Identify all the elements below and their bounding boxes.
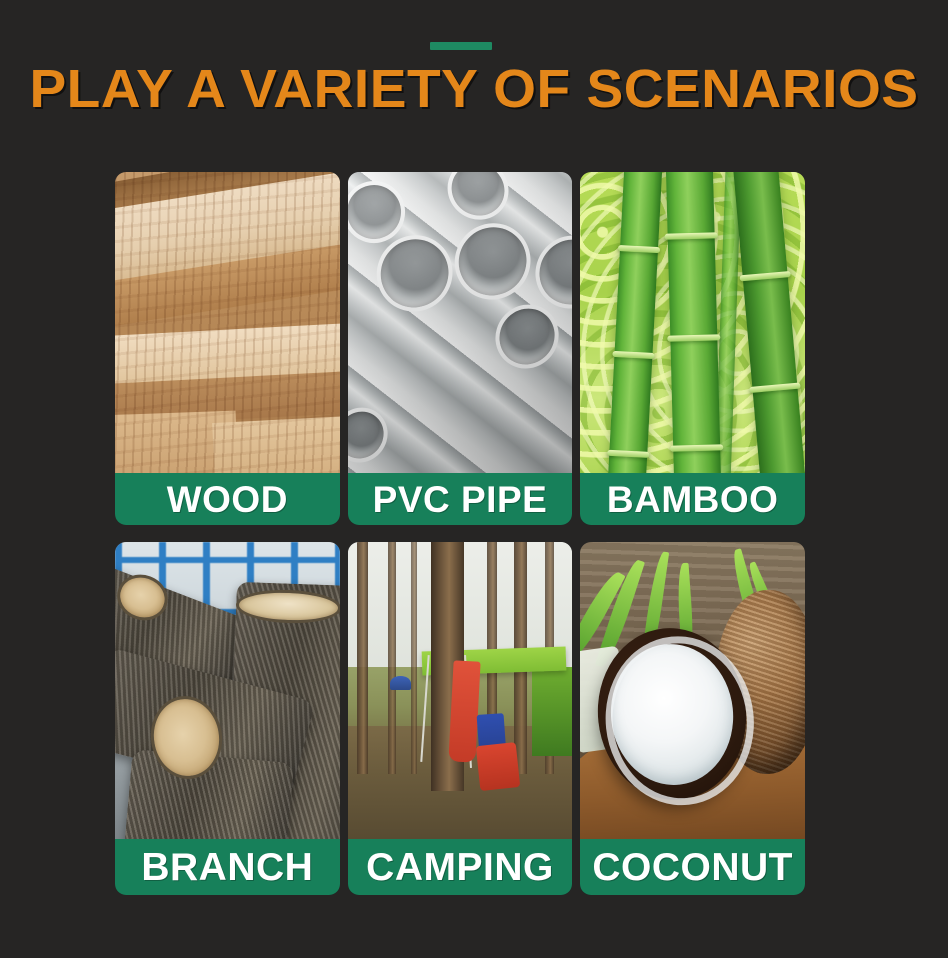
scenario-label-branch: BRANCH <box>115 839 340 895</box>
bamboo-node <box>739 271 790 281</box>
scenario-card-wood[interactable]: WOOD <box>115 172 340 525</box>
scenario-label-camping: CAMPING <box>348 839 573 895</box>
red-cloth-on-gear <box>476 742 521 791</box>
bamboo-node <box>670 444 723 451</box>
page-title: PLAY A VARIETY OF SCENARIOS <box>0 62 948 116</box>
bamboo-node <box>749 383 800 393</box>
pvc-photo <box>348 172 573 473</box>
pine-tree <box>357 542 368 774</box>
bamboo-node <box>607 450 650 458</box>
pine-tree <box>388 542 396 774</box>
bamboo-node <box>668 335 721 342</box>
scenario-label-pvc: PVC PIPE <box>348 473 573 525</box>
distant-tent <box>390 676 410 691</box>
scenario-card-coconut[interactable]: COCONUT <box>580 542 805 895</box>
bamboo-culm <box>666 172 722 473</box>
wood-photo <box>115 172 340 473</box>
bamboo-photo <box>580 172 805 473</box>
bamboo-node <box>618 245 661 253</box>
scenario-label-wood: WOOD <box>115 473 340 525</box>
branch-photo <box>115 542 340 839</box>
scenario-card-camping[interactable]: CAMPING <box>348 542 573 895</box>
scenario-label-bamboo: BAMBOO <box>580 473 805 525</box>
scenario-label-coconut: COCONUT <box>580 839 805 895</box>
pvc-shading <box>348 172 573 473</box>
camping-photo <box>348 542 573 839</box>
accent-dash-icon <box>430 42 492 50</box>
scenario-card-bamboo[interactable]: BAMBOO <box>580 172 805 525</box>
header-section: PLAY A VARIETY OF SCENARIOS <box>0 0 948 150</box>
scenario-grid: WOOD PVC PIPE <box>115 172 805 895</box>
wood-grain-texture <box>115 172 340 473</box>
bamboo-node <box>612 351 655 359</box>
scenario-card-branch[interactable]: BRANCH <box>115 542 340 895</box>
pine-tree <box>411 542 418 774</box>
scenario-card-pvc[interactable]: PVC PIPE <box>348 172 573 525</box>
coconut-photo <box>580 542 805 839</box>
green-tent-side <box>532 667 572 756</box>
bamboo-node <box>665 232 718 239</box>
